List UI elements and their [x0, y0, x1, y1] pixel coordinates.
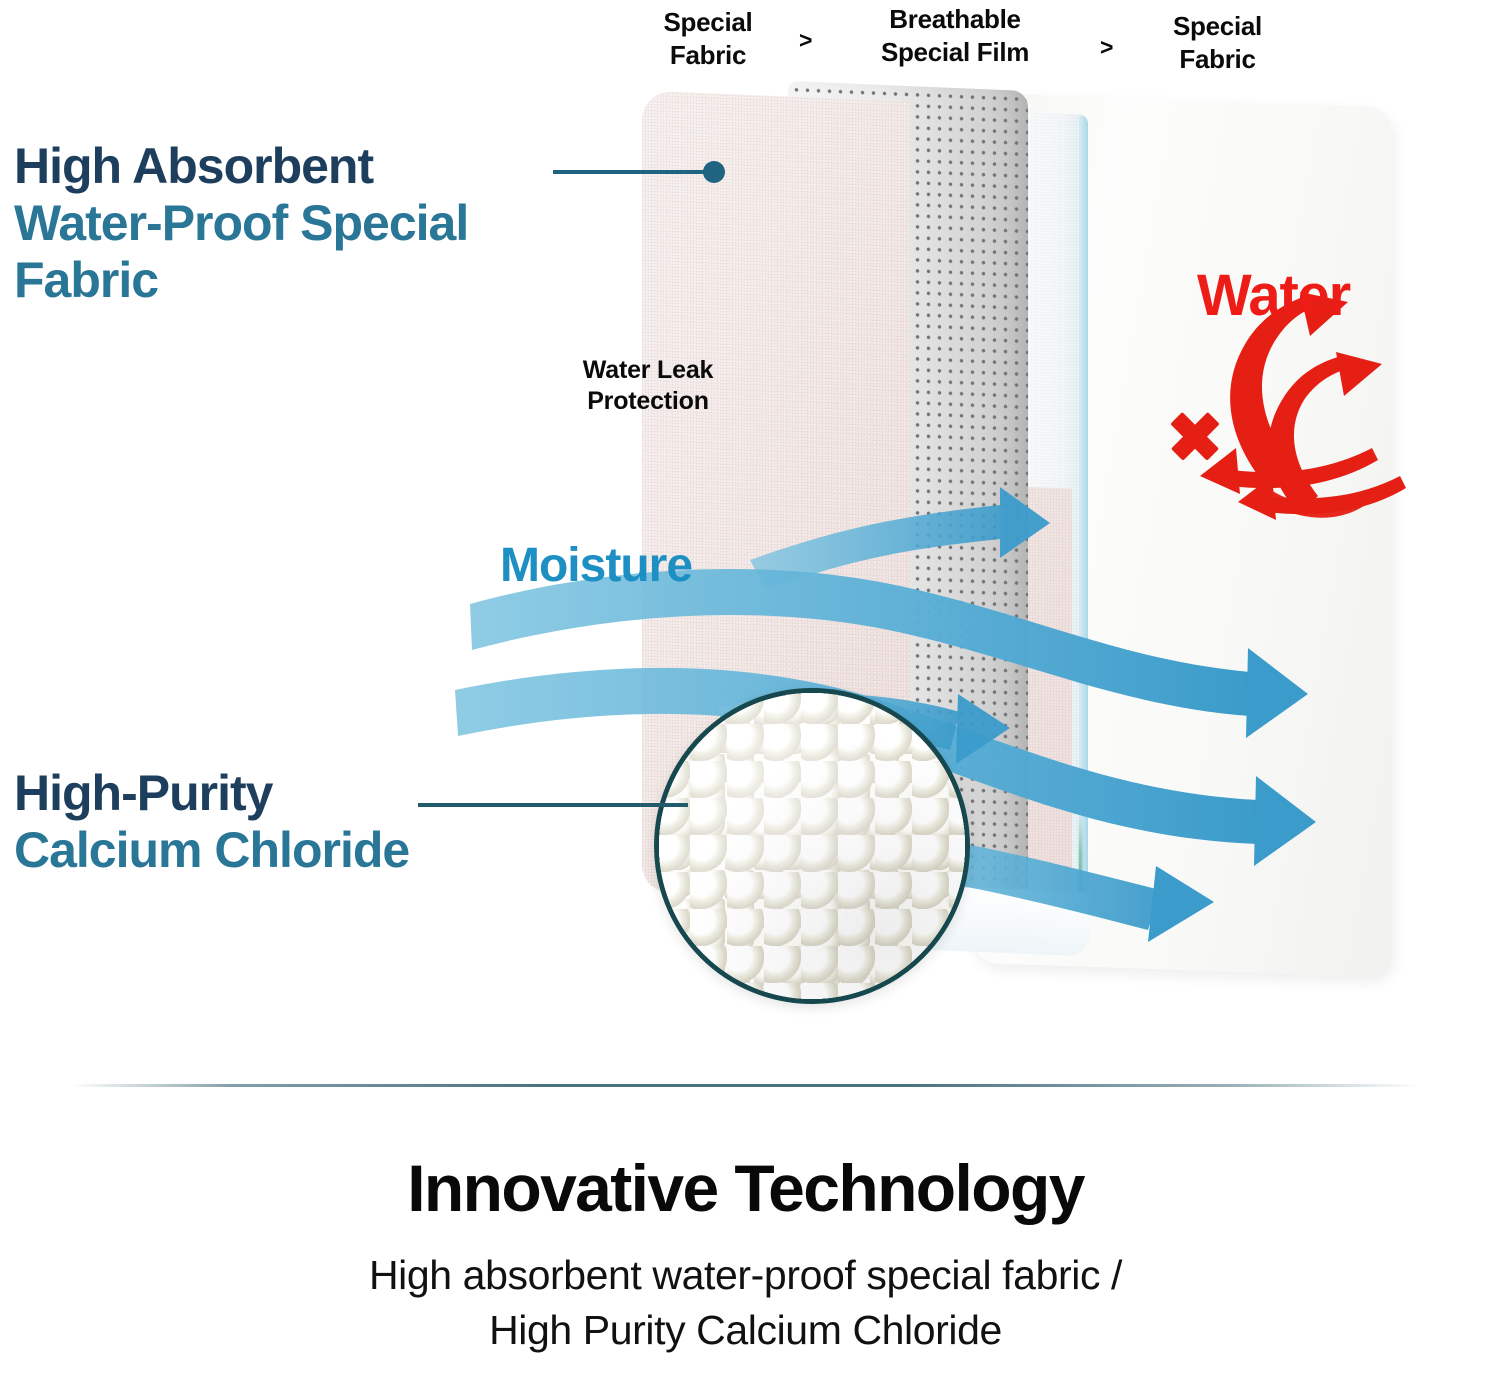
section-divider	[70, 1084, 1420, 1087]
heading-2-line-1: High-Purity	[14, 765, 594, 822]
footer-subtitle-line-1: High absorbent water-proof special fabri…	[369, 1252, 1122, 1298]
layer-labels-row: Special Fabric > Breathable Special Film…	[625, 2, 1315, 88]
heading-high-purity-calcium-chloride: High-Purity Calcium Chloride	[14, 765, 594, 879]
calcium-chloride-bead-closeup	[654, 688, 970, 1004]
layer-label-special-fabric-front: Special Fabric	[633, 6, 783, 73]
leader-line-calcium	[418, 803, 688, 807]
heading-high-absorbent-fabric: High Absorbent Water-Proof Special Fabri…	[14, 138, 554, 309]
footer-subtitle-line-2: High Purity Calcium Chloride	[489, 1307, 1002, 1353]
moisture-label: Moisture	[500, 538, 692, 593]
heading-1-line-2: Water-Proof Special Fabric	[14, 195, 554, 309]
callout-dot-icon	[703, 161, 725, 183]
water-leak-protection-label: Water Leak Protection	[548, 355, 748, 416]
layer-separator-icon-2: >	[1100, 34, 1113, 61]
product-infographic: Special Fabric > Breathable Special Film…	[0, 0, 1491, 1375]
heading-2-line-2: Calcium Chloride	[14, 822, 594, 879]
layer-separator-icon-1: >	[799, 27, 812, 54]
layer-label-breathable-special-film: Breathable Special Film	[830, 3, 1080, 70]
footer-subtitle: High absorbent water-proof special fabri…	[0, 1248, 1491, 1358]
bead-highlight	[659, 693, 965, 999]
heading-1-line-1: High Absorbent	[14, 138, 554, 195]
water-label: Water	[1197, 262, 1350, 329]
leader-line-fabric	[553, 170, 715, 174]
layer-label-special-fabric-back: Special Fabric	[1140, 10, 1295, 77]
footer-title: Innovative Technology	[0, 1150, 1491, 1226]
